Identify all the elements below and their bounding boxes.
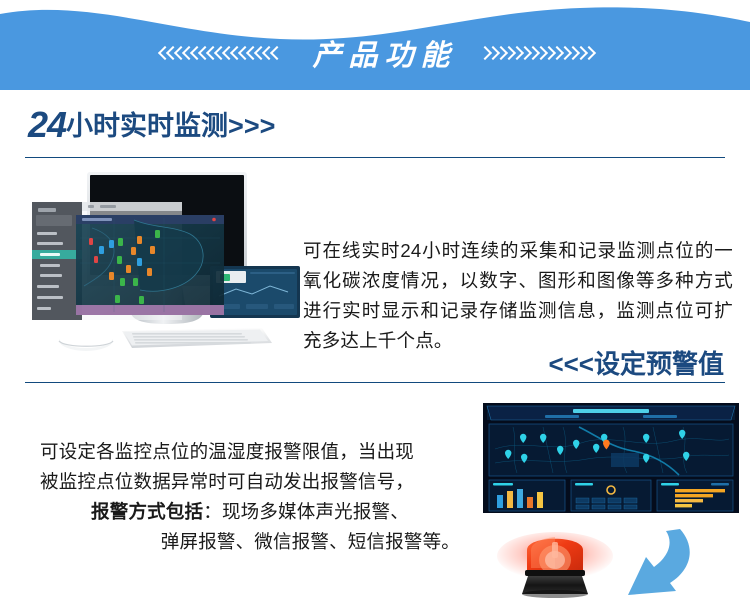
alarm-line-3-bold: 报警方式包括 — [91, 501, 203, 522]
keyboard — [122, 328, 272, 348]
heading-text-realtime: 小时实时监测>>> — [66, 111, 275, 141]
section-heading-24h: 24小时实时监测>>> — [28, 104, 275, 146]
heading-number-24: 24 — [28, 104, 66, 145]
dashboard-ranking-panel — [657, 480, 733, 511]
blue-curved-arrow-icon — [608, 527, 698, 599]
page-banner: 产品功能 — [0, 0, 750, 90]
dashboard-bar-panel — [489, 480, 565, 511]
paragraph-alarm: 可设定各监控点位的温湿度报警限值，当出现 被监控点位数据异常时可自动发出报警信号… — [40, 437, 460, 557]
alarm-line-3-rest: ：现场多媒体声光报警、 — [203, 501, 409, 522]
monitor-illustration — [14, 168, 304, 356]
alarm-line-1: 可设定各监控点位的温湿度报警限值，当出现 — [40, 437, 460, 467]
banner-chevrons-right — [479, 45, 591, 61]
section-heading-preset-alarm: <<<设定预警值 — [548, 344, 724, 381]
alarm-line-3: 报警方式包括：现场多媒体声光报警、 — [40, 497, 460, 527]
banner-title: 产品功能 — [305, 32, 456, 74]
paragraph-monitor: 可在线实时24小时连续的采集和记录监测点位的一氧化碳浓度情况，以数字、图形和图像… — [303, 236, 733, 356]
map-window-overlay — [76, 215, 224, 315]
mouse — [59, 328, 113, 351]
divider-top — [25, 157, 725, 158]
alarm-line-2: 被监控点位数据异常时可自动发出报警信号， — [40, 467, 460, 497]
alarm-line-4: 弹屏报警、微信报警、短信报警等。 — [40, 527, 460, 557]
divider-middle — [25, 382, 725, 383]
banner-chevrons-left — [159, 45, 279, 61]
dashboard-control-panel — [571, 480, 651, 511]
command-dashboard-illustration — [483, 403, 739, 513]
dashboard-title-bar — [573, 409, 649, 413]
alarm-beacon-illustration — [495, 520, 620, 598]
dashboard-map-panel — [489, 424, 733, 476]
